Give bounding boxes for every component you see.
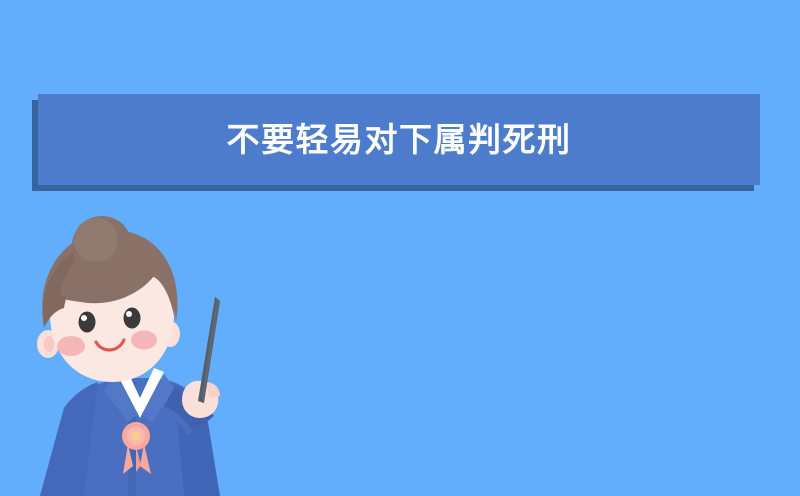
title-banner: 不要轻易对下属判死刑 bbox=[38, 94, 760, 185]
eye-right bbox=[124, 308, 141, 329]
page-title: 不要轻易对下属判死刑 bbox=[227, 123, 572, 156]
ear-left-inner bbox=[44, 336, 54, 352]
teacher-illustration bbox=[24, 222, 254, 496]
blush-left bbox=[57, 336, 85, 356]
badge-center bbox=[132, 432, 141, 441]
eye-left-highlight bbox=[81, 315, 87, 321]
hair-bun-highlight bbox=[74, 218, 118, 262]
eye-right-highlight bbox=[126, 311, 132, 317]
blush-right bbox=[131, 331, 157, 350]
poster-canvas: 不要轻易对下属判死刑 bbox=[0, 0, 800, 496]
head-group bbox=[37, 216, 180, 382]
eye-left bbox=[79, 312, 96, 333]
